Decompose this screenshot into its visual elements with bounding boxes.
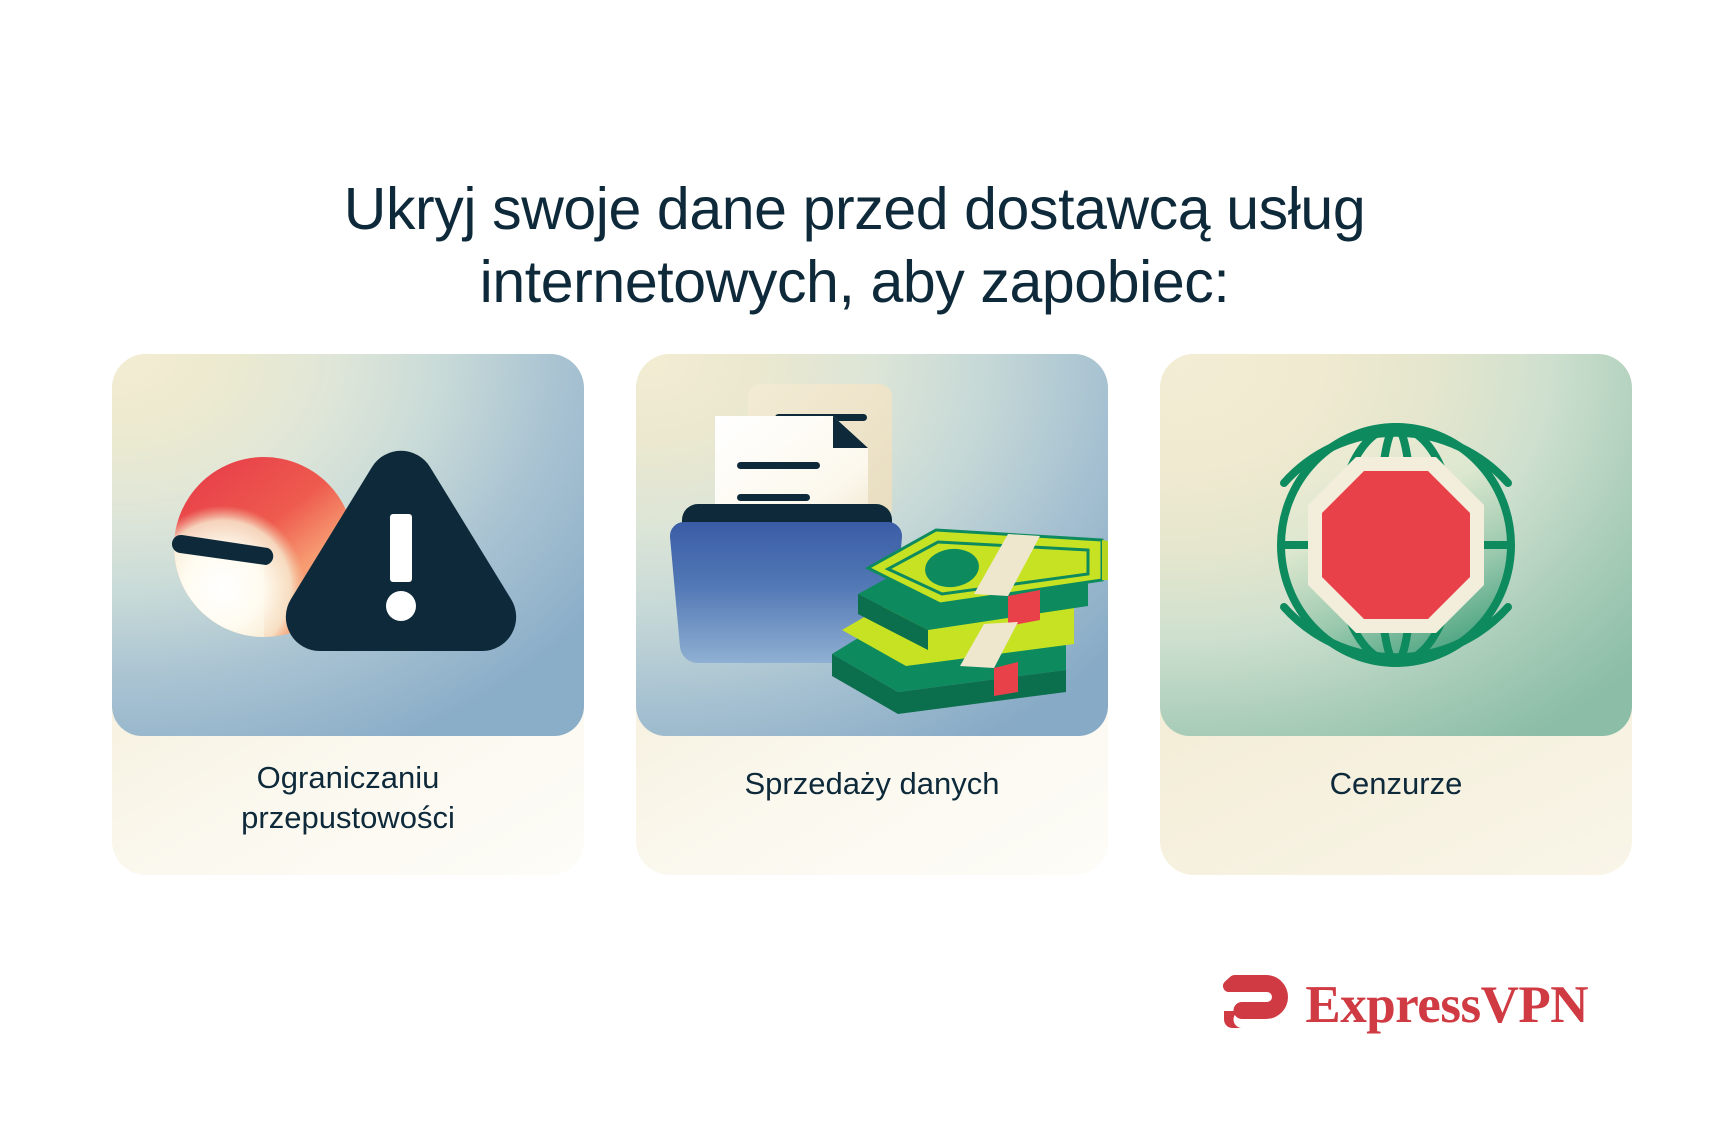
globe-stop-sign-icon — [1160, 354, 1632, 736]
infographic-canvas: Ukryj swoje dane przed dostawcą usług in… — [0, 0, 1709, 1121]
folder-documents-cash-icon — [636, 354, 1108, 736]
card-throttling-label-line1: Ograniczaniu — [134, 758, 562, 798]
card-censorship-label: Cenzurze — [1160, 736, 1632, 838]
card-data-selling-illustration-panel — [636, 354, 1108, 736]
card-throttling-label-line2: przepustowości — [134, 798, 562, 838]
card-data-selling-label: Sprzedaży danych — [636, 736, 1108, 838]
card-censorship-label-line1: Cenzurze — [1182, 764, 1610, 804]
card-throttling-illustration-panel — [112, 354, 584, 736]
card-data-selling[interactable]: Sprzedaży danych — [636, 354, 1108, 875]
expressvpn-logo[interactable]: ExpressVPN — [1221, 973, 1588, 1037]
card-censorship-illustration-panel — [1160, 354, 1632, 736]
card-censorship[interactable]: Cenzurze — [1160, 354, 1632, 875]
expressvpn-e-logo — [1221, 973, 1291, 1037]
card-throttling-label: Ograniczaniu przepustowości — [112, 736, 584, 869]
expressvpn-wordmark: ExpressVPN — [1305, 979, 1588, 1032]
benefit-card-row: Ograniczaniu przepustowości — [112, 354, 1632, 875]
card-throttling[interactable]: Ograniczaniu przepustowości — [112, 354, 584, 875]
speedometer-warning-icon — [112, 354, 584, 736]
page-title: Ukryj swoje dane przed dostawcą usług in… — [0, 173, 1709, 319]
card-data-selling-label-line1: Sprzedaży danych — [658, 764, 1086, 804]
